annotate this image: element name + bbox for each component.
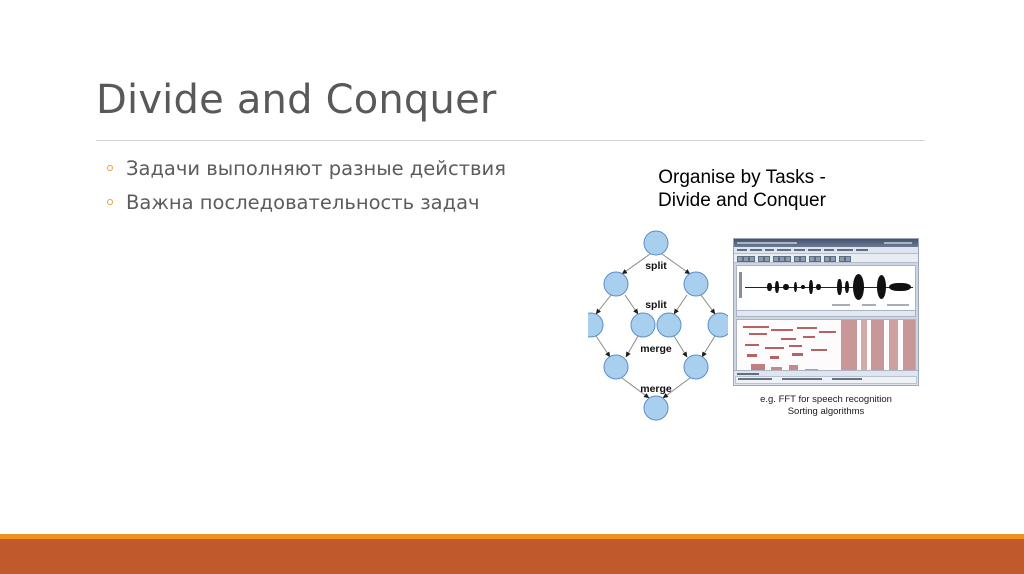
figure-heading: Organise by Tasks - Divide and Conquer <box>612 166 872 212</box>
divide-conquer-graph: split split merge merge <box>588 226 728 421</box>
graph-node <box>604 355 628 379</box>
graph-label-split-1: split <box>645 260 667 272</box>
graph-node <box>708 313 728 337</box>
app-titlebar <box>734 239 918 247</box>
audio-editor-screenshot <box>733 238 919 386</box>
figure-caption-line-2: Sorting algorithms <box>728 406 924 418</box>
figure-heading-line-1: Organise by Tasks - <box>612 166 872 189</box>
graph-node-root <box>644 231 668 255</box>
app-toolbar <box>734 254 918 263</box>
title-divider <box>96 140 925 141</box>
waveform-scrollbar[interactable] <box>736 311 916 317</box>
graph-node <box>588 313 603 337</box>
bullet-list: Задачи выполняют разные действия Важна п… <box>104 156 534 224</box>
list-item: Задачи выполняют разные действия <box>104 156 534 181</box>
accent-band <box>0 539 1024 574</box>
app-status-field <box>735 376 917 384</box>
graph-node <box>684 272 708 296</box>
graph-node <box>604 272 628 296</box>
waveform-pane <box>736 265 916 311</box>
page-title: Divide and Conquer <box>96 78 497 122</box>
graph-node-final <box>644 396 668 420</box>
figure-caption-line-1: e.g. FFT for speech recognition <box>728 394 924 406</box>
graph-node <box>631 313 655 337</box>
figure-caption: e.g. FFT for speech recognition Sorting … <box>728 394 924 417</box>
figure-block: Organise by Tasks - Divide and Conquer <box>588 166 928 426</box>
app-menubar <box>734 247 918 254</box>
app-statusbar <box>734 370 918 385</box>
list-item-label: Задачи выполняют разные действия <box>126 157 506 180</box>
graph-node <box>684 355 708 379</box>
list-item: Важна последовательность задач <box>104 190 534 215</box>
bullet-circle-icon <box>107 199 113 205</box>
list-item-label: Важна последовательность задач <box>126 191 480 214</box>
graph-label-merge-1: merge <box>640 343 672 355</box>
graph-node <box>657 313 681 337</box>
graph-label-split-2: split <box>645 299 667 311</box>
figure-heading-line-2: Divide and Conquer <box>612 189 872 212</box>
graph-label-merge-2: merge <box>640 383 672 395</box>
bullet-circle-icon <box>107 165 113 171</box>
